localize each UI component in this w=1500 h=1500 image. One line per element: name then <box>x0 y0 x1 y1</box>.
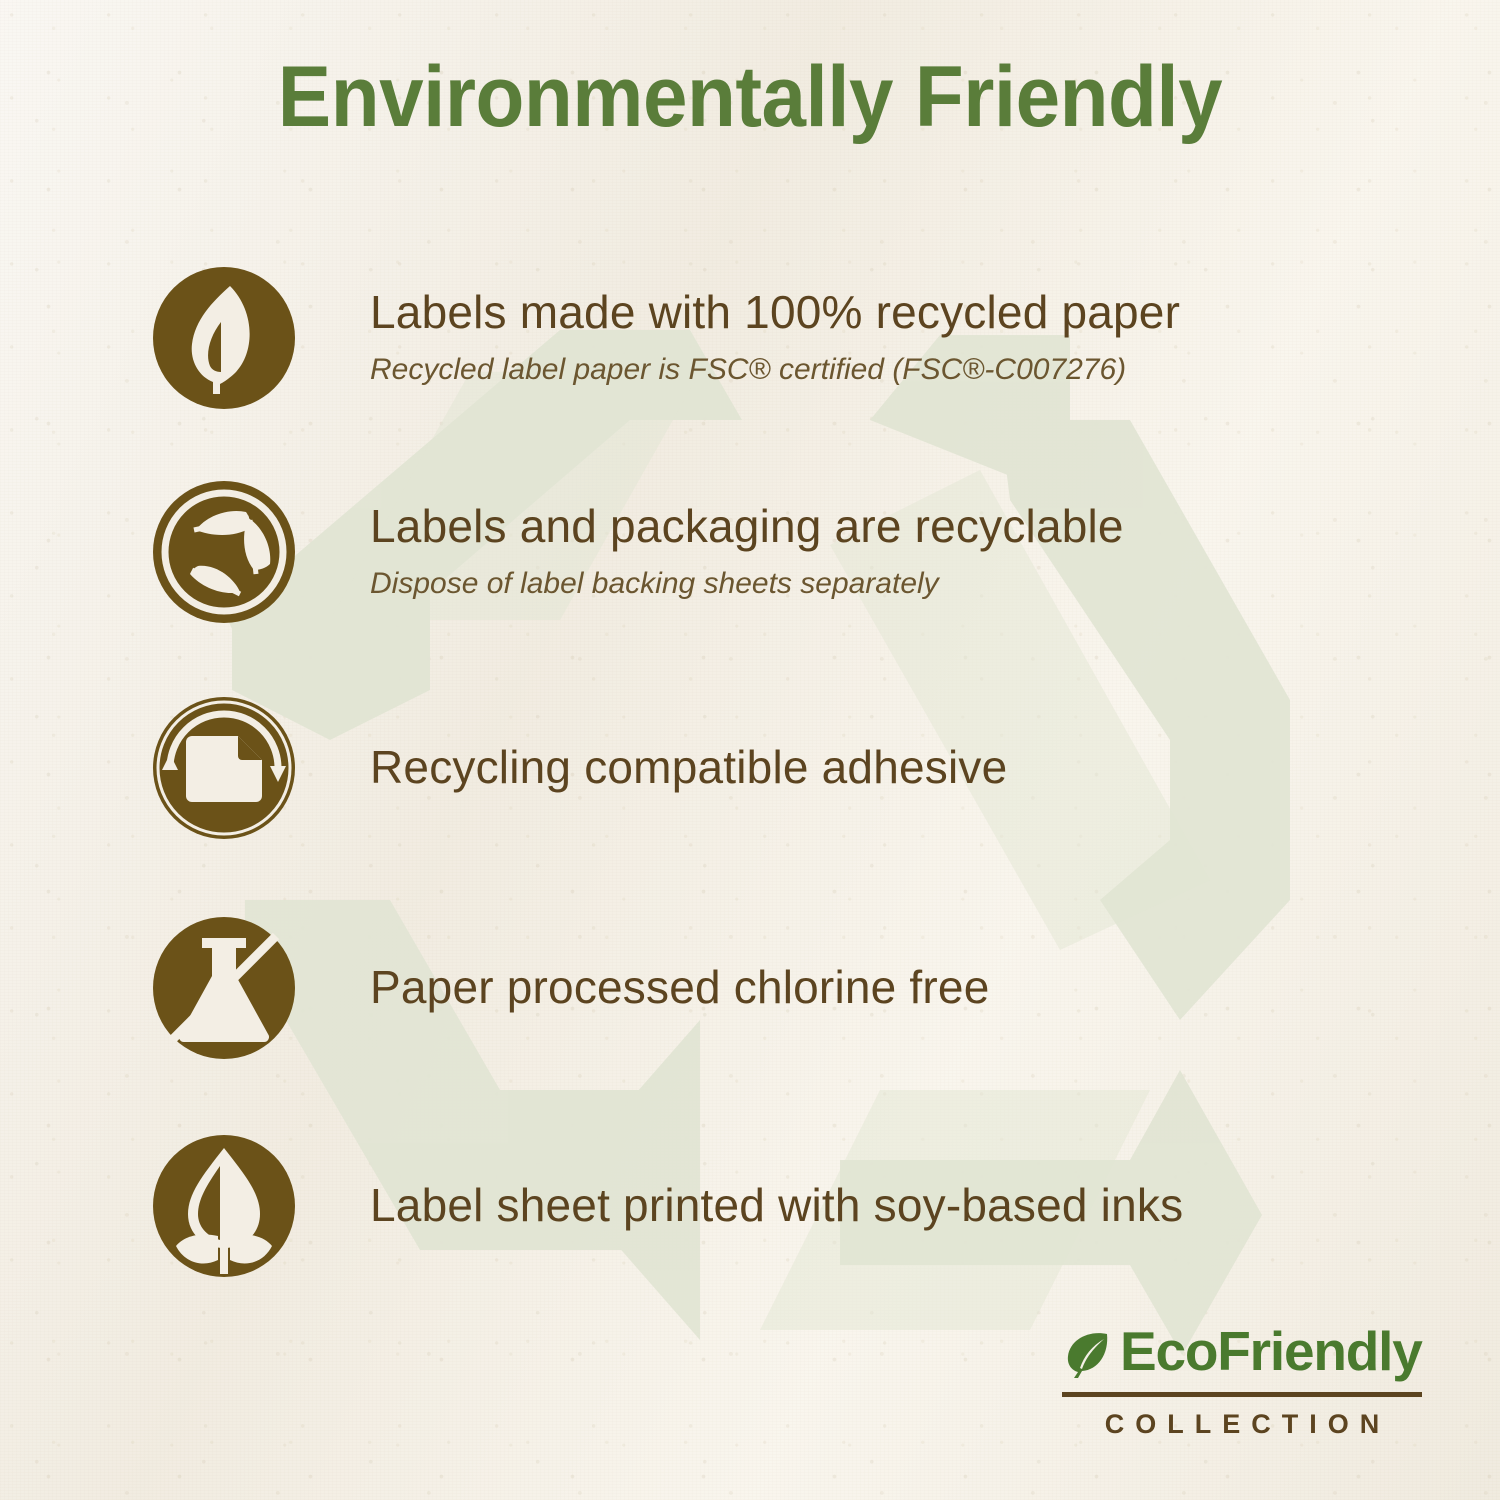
feature-texts: Paper processed chlorine free <box>370 963 1410 1013</box>
no-chlorine-flask-circle-icon: CL <box>150 914 298 1062</box>
leaf-icon <box>1062 1326 1114 1378</box>
feature-row: Labels and packaging are recyclable Disp… <box>150 478 1410 626</box>
feature-title: Labels and packaging are recyclable <box>370 502 1410 552</box>
page-title: Environmentally Friendly <box>53 48 1448 147</box>
feature-texts: Recycling compatible adhesive <box>370 743 1410 793</box>
feature-row: Recycling compatible adhesive <box>150 694 1410 842</box>
feature-title: Labels made with 100% recycled paper <box>370 288 1410 338</box>
brand-logo: EcoFriendly COLLECTION <box>1062 1324 1422 1440</box>
brand-divider <box>1062 1392 1422 1397</box>
brand-subtitle: COLLECTION <box>1062 1409 1422 1440</box>
brand-wordmark: EcoFriendly <box>1120 1324 1422 1379</box>
soy-drop-sprout-circle-icon <box>150 1132 298 1280</box>
three-leaves-recycle-circle-icon <box>150 478 298 626</box>
feature-texts: Label sheet printed with soy-based inks <box>370 1181 1410 1231</box>
feature-row: Label sheet printed with soy-based inks <box>150 1132 1410 1280</box>
feature-title: Label sheet printed with soy-based inks <box>370 1181 1410 1231</box>
document-with-arrows-circle-icon <box>150 694 298 842</box>
leaf-in-circle-icon <box>150 264 298 412</box>
feature-subtitle: Recycled label paper is FSC® certified (… <box>370 352 1410 388</box>
feature-row: Labels made with 100% recycled paper Rec… <box>150 264 1410 412</box>
feature-title: Recycling compatible adhesive <box>370 743 1410 793</box>
feature-row: CL Paper processed chlorine free <box>150 914 1410 1062</box>
feature-texts: Labels made with 100% recycled paper Rec… <box>370 288 1410 388</box>
feature-title: Paper processed chlorine free <box>370 963 1410 1013</box>
feature-texts: Labels and packaging are recyclable Disp… <box>370 502 1410 602</box>
feature-subtitle: Dispose of label backing sheets separate… <box>370 566 1410 602</box>
